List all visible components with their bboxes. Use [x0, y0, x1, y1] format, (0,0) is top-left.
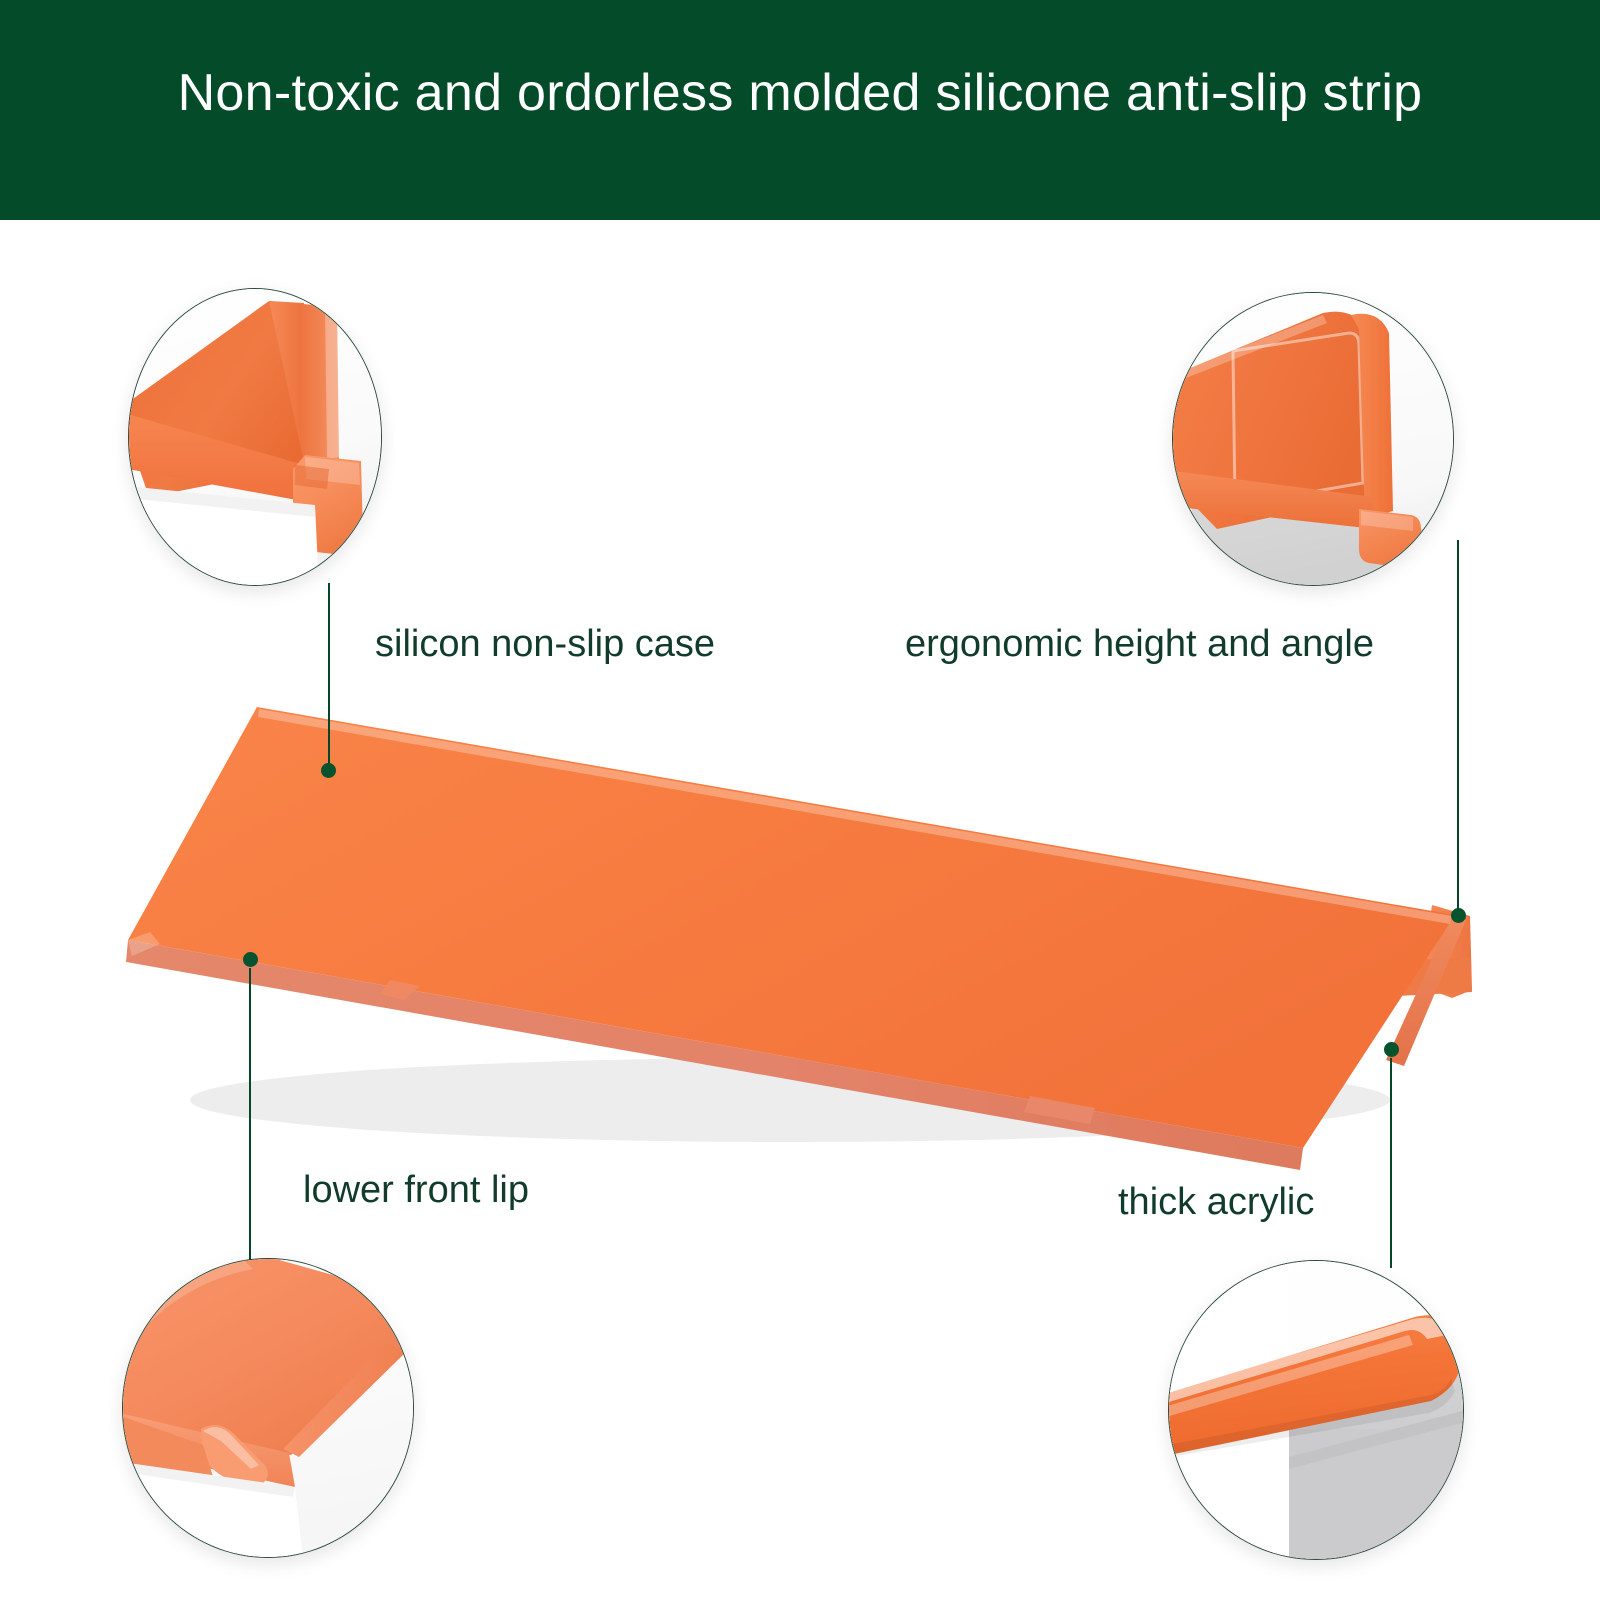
header-banner: Non-toxic and ordorless molded silicone … [0, 0, 1600, 220]
infographic-page: Non-toxic and ordorless molded silicone … [0, 0, 1600, 1600]
connector-line-lower-front-lip [249, 968, 251, 1260]
callout-circle-lower-front-lip [122, 1258, 414, 1558]
lower-front-lip [126, 940, 1303, 1170]
callout-label-lower-front-lip: lower front lip [303, 1168, 529, 1212]
connector-line-silicon-non-slip-case [328, 583, 330, 771]
back-foot [1396, 958, 1472, 996]
anchor-dot-lower-front-lip [243, 952, 258, 967]
lower-front-lip-detail [123, 1259, 413, 1557]
anchor-dot-thick-acrylic [1384, 1042, 1399, 1057]
thick-acrylic-detail [1169, 1261, 1463, 1559]
callout-label-thick-acrylic: thick acrylic [1118, 1180, 1314, 1224]
board-left-corner-highlight [128, 932, 160, 956]
callout-label-ergonomic-height-and-angle: ergonomic height and angle [905, 622, 1374, 666]
anchor-dot-silicon-non-slip-case [321, 763, 336, 778]
callout-circle-silicon-non-slip-case [128, 288, 382, 586]
ergonomic-height-and-angle-detail [1173, 293, 1453, 585]
silicon-non-slip-case-detail [129, 289, 381, 585]
front-lip-notch-left [380, 980, 420, 1000]
page-title: Non-toxic and ordorless molded silicone … [0, 62, 1600, 124]
right-thickness-edge [1386, 915, 1466, 1066]
connector-line-ergonomic-height-and-angle [1457, 540, 1459, 918]
front-lip-notch-right [1024, 1096, 1095, 1124]
callout-circle-ergonomic-height-and-angle [1172, 292, 1454, 586]
callout-circle-thick-acrylic [1168, 1260, 1464, 1560]
callout-label-silicon-non-slip-case: silicon non-slip case [375, 622, 715, 666]
anchor-dot-ergonomic-height-and-angle [1451, 908, 1466, 923]
connector-line-thick-acrylic [1390, 1058, 1392, 1268]
board-top-highlight [258, 709, 1452, 924]
